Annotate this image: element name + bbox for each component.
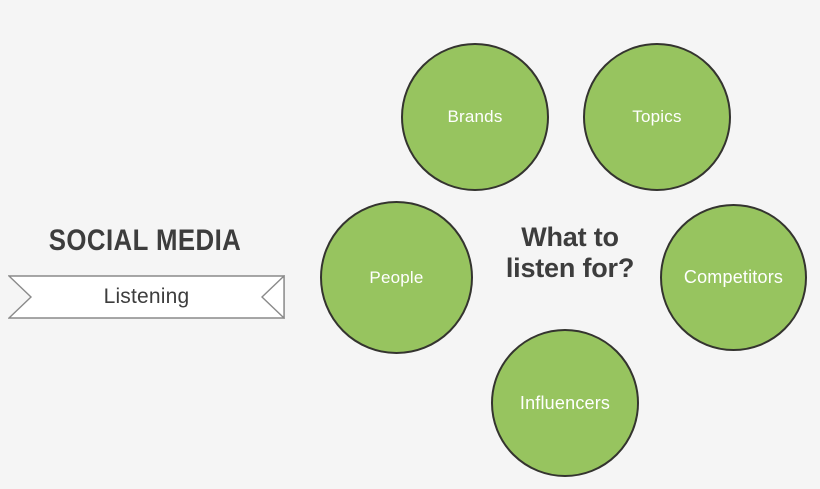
node-label: Brands (447, 107, 502, 127)
node-label: Topics (632, 107, 681, 127)
diagram-node-competitors[interactable]: Competitors (660, 204, 807, 351)
diagram-node-brands[interactable]: Brands (401, 43, 549, 191)
diagram-node-topics[interactable]: Topics (583, 43, 731, 191)
diagram-node-influencers[interactable]: Influencers (491, 329, 639, 477)
infographic-canvas: SOCIAL MEDIA Listening Brands Topics Peo… (0, 0, 820, 489)
node-label: People (369, 268, 423, 288)
diagram-node-people[interactable]: People (320, 201, 473, 354)
center-question: What to listen for? (477, 222, 663, 284)
node-label: Competitors (684, 267, 783, 288)
circle-diagram: Brands Topics People Competitors Influen… (0, 0, 820, 489)
center-question-line-2: listen for? (477, 253, 663, 284)
center-question-line-1: What to (477, 222, 663, 253)
node-label: Influencers (520, 393, 610, 414)
